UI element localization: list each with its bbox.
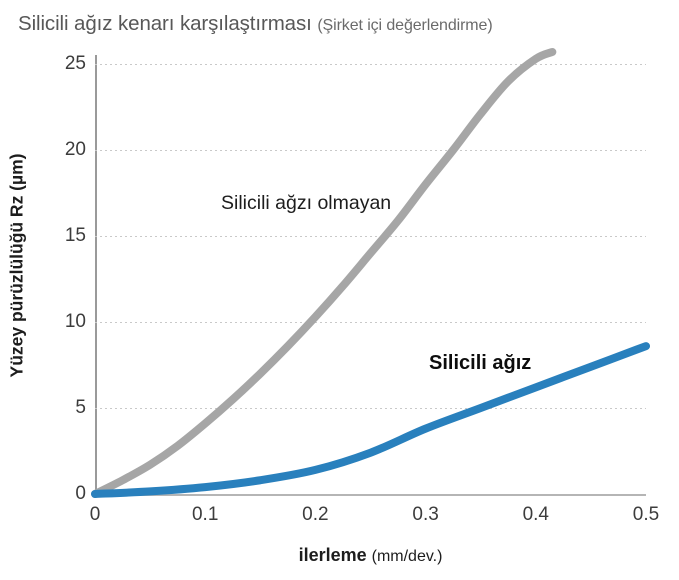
y-tick-label-0: 0 (0, 483, 86, 505)
x-tick-label-0.4: 0.4 (523, 504, 549, 526)
series-label-silicili-agzi-olmayan: Silicili ağzı olmayan (221, 192, 391, 215)
x-tick-label-0: 0 (90, 504, 101, 526)
y-axis-title: Yüzey pürüzlülüğü Rz (µm) (7, 101, 28, 431)
x-tick-label-0.2: 0.2 (302, 504, 328, 526)
y-tick-label-25: 25 (0, 53, 86, 75)
x-axis-title: ilerleme (mm/dev.) (95, 545, 646, 566)
series-label-silicili-agiz: Silicili ağız (429, 352, 531, 375)
gridline-y-25 (95, 64, 646, 65)
gridline-y-15 (95, 236, 646, 237)
chart-title-subtitle: (Şirket içi değerlendirme) (317, 17, 492, 34)
gridline-y-5 (95, 408, 646, 409)
chart-title: Silicili ağız kenarı karşılaştırması (Şi… (18, 12, 493, 36)
gridline-y-10 (95, 322, 646, 323)
x-axis-title-unit: (mm/dev.) (372, 548, 443, 565)
plot-area (95, 55, 646, 495)
x-tick-label-0.1: 0.1 (192, 504, 218, 526)
gridline-y-20 (95, 150, 646, 151)
x-tick-label-0.5: 0.5 (633, 504, 659, 526)
x-tick-label-0.3: 0.3 (412, 504, 438, 526)
x-axis-title-main: ilerleme (299, 545, 372, 565)
